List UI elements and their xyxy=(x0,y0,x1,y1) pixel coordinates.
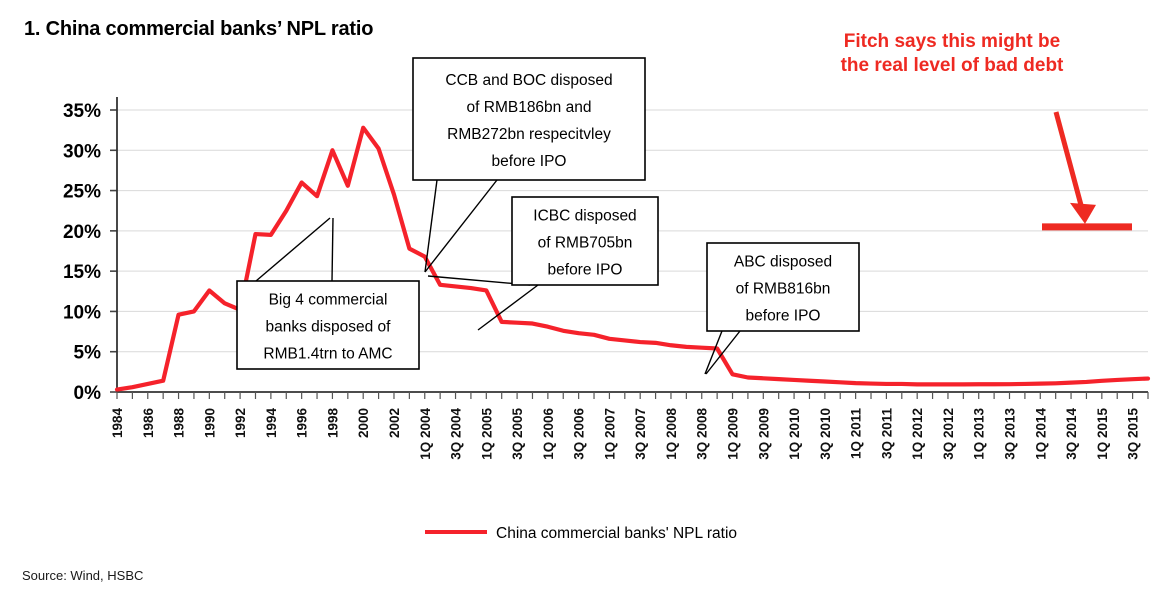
x-tick-label: 1Q 2004 xyxy=(418,408,433,460)
x-tick-label: 1Q 2008 xyxy=(664,408,679,460)
chart-plot: 0%5%10%15%20%25%30%35% 19841986198819901… xyxy=(0,0,1161,603)
callout-icbc: ICBC disposedof RMB705bnbefore IPO xyxy=(428,197,658,330)
y-tick-label: 25% xyxy=(63,182,101,203)
callout-text-line: CCB and BOC disposed xyxy=(445,72,612,89)
y-tick-label: 35% xyxy=(63,101,101,122)
source-note: Source: Wind, HSBC xyxy=(22,568,143,583)
fitch-level-marker xyxy=(1042,112,1132,227)
callout-leader-line xyxy=(706,331,740,374)
callout-text-line: before IPO xyxy=(746,308,821,325)
callout-text-line: of RMB816bn xyxy=(736,281,831,298)
callout-text-line: of RMB705bn xyxy=(538,235,633,252)
y-tick-label: 30% xyxy=(63,141,101,162)
x-tick-label: 3Q 2004 xyxy=(449,408,464,460)
x-tick-label: 3Q 2015 xyxy=(1126,408,1141,460)
x-tick-label: 1Q 2012 xyxy=(910,408,925,460)
y-tick-label: 15% xyxy=(63,262,101,283)
legend-label-npl-ratio: China commercial banks' NPL ratio xyxy=(496,525,737,542)
x-tick-label: 1Q 2006 xyxy=(541,408,556,460)
x-tick-label: 3Q 2008 xyxy=(695,408,710,460)
x-tick-label: 3Q 2006 xyxy=(572,408,587,460)
x-tick-label: 3Q 2009 xyxy=(756,408,771,460)
x-tick-label: 1996 xyxy=(295,408,310,439)
callout-text-line: ABC disposed xyxy=(734,254,832,271)
y-tick-label: 5% xyxy=(74,343,102,364)
x-axis xyxy=(117,392,1148,399)
y-tick-label: 10% xyxy=(63,302,101,323)
fitch-arrow-head xyxy=(1070,203,1096,224)
callout-text-line: ICBC disposed xyxy=(533,208,636,225)
x-tick-label: 1Q 2009 xyxy=(726,408,741,460)
x-tick-label: 2000 xyxy=(356,408,371,438)
callout-text-line: RMB1.4trn to AMC xyxy=(263,346,392,363)
x-tick-label: 1Q 2015 xyxy=(1095,408,1110,460)
x-tick-label: 1994 xyxy=(264,408,279,439)
x-tick-label: 1Q 2014 xyxy=(1033,408,1048,460)
x-tick-label: 3Q 2013 xyxy=(1003,408,1018,460)
callout-text-line: RMB272bn respecitvley xyxy=(447,126,611,143)
x-tick-label: 3Q 2011 xyxy=(879,408,894,460)
fitch-arrow-shaft xyxy=(1056,112,1082,209)
x-tick-labels: 1984198619881990199219941996199820002002… xyxy=(110,408,1141,460)
chart-legend: China commercial banks' NPL ratio xyxy=(425,525,737,542)
x-tick-label: 3Q 2005 xyxy=(510,408,525,460)
callout-text-line: Big 4 commercial xyxy=(269,292,388,309)
x-tick-label: 1998 xyxy=(325,408,340,439)
x-tick-label: 1990 xyxy=(202,408,217,438)
x-tick-label: 3Q 2014 xyxy=(1064,408,1079,460)
x-tick-label: 1Q 2011 xyxy=(849,408,864,460)
x-tick-label: 1Q 2005 xyxy=(479,408,494,460)
x-tick-label: 1Q 2007 xyxy=(602,408,617,460)
x-tick-label: 1988 xyxy=(172,408,187,439)
callout-text-line: banks disposed of xyxy=(266,319,392,336)
y-tick-label: 20% xyxy=(63,222,101,243)
x-tick-label: 1Q 2010 xyxy=(787,408,802,460)
x-tick-label: 1984 xyxy=(110,408,125,439)
x-tick-label: 2002 xyxy=(387,408,402,438)
callout-big4: Big 4 commercialbanks disposed ofRMB1.4t… xyxy=(237,218,419,369)
callout-leader-line xyxy=(332,218,333,281)
x-tick-label: 3Q 2007 xyxy=(633,408,648,460)
x-tick-label: 3Q 2010 xyxy=(818,408,833,460)
x-tick-label: 1Q 2013 xyxy=(972,408,987,460)
y-tick-label: 0% xyxy=(74,383,102,404)
callout-text-line: before IPO xyxy=(548,262,623,279)
x-tick-label: 1986 xyxy=(141,408,156,439)
x-tick-label: 3Q 2012 xyxy=(941,408,956,460)
x-tick-label: 1992 xyxy=(233,408,248,438)
callout-text-line: before IPO xyxy=(492,153,567,170)
chart-figure: 1. China commercial banks’ NPL ratio Fit… xyxy=(0,0,1161,603)
callout-text-line: of RMB186bn and xyxy=(467,99,592,116)
callout-abc: ABC disposedof RMB816bnbefore IPO xyxy=(705,243,859,374)
